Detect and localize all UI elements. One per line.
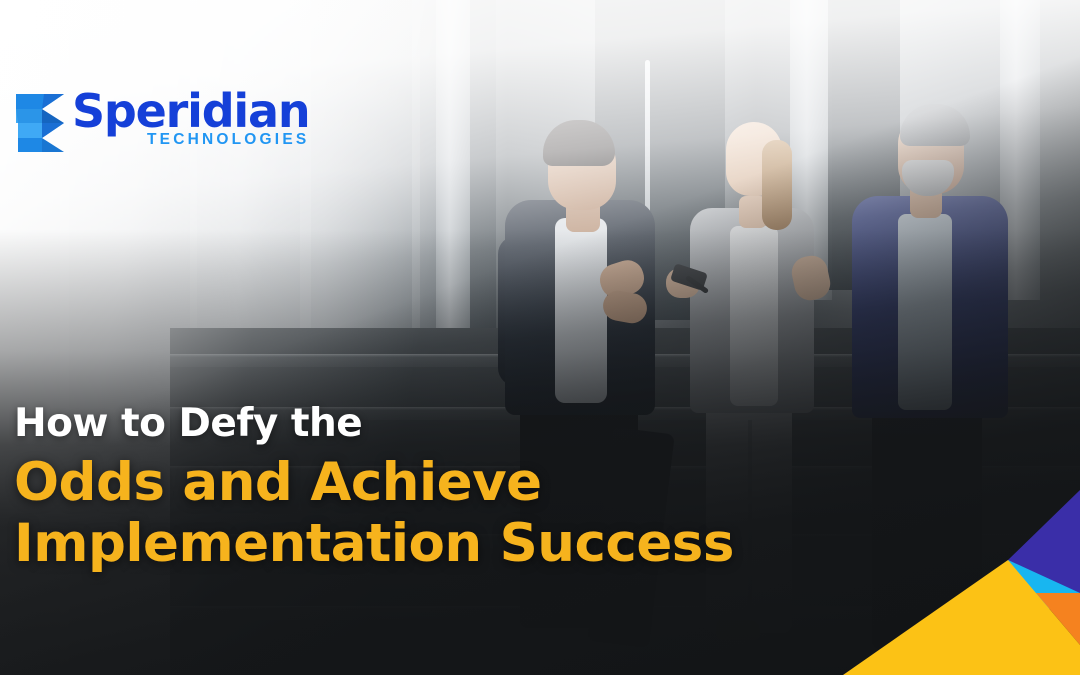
headline-line-2: Odds and Achieve xyxy=(14,455,914,510)
speridian-logo[interactable]: Speridian TECHNOLOGIES xyxy=(16,88,309,154)
headline-block: How to Defy the Odds and Achieve Impleme… xyxy=(14,404,914,571)
headline-line-1: How to Defy the xyxy=(14,404,914,445)
facade-pillar xyxy=(436,0,470,340)
speridian-s-chevron-icon xyxy=(16,92,66,154)
marketing-banner: Speridian TECHNOLOGIES How to Defy the O… xyxy=(0,0,1080,675)
headline-line-3: Implementation Success xyxy=(14,516,914,571)
corner-brand-graphic xyxy=(830,485,1080,675)
logo-wordmark: Speridian xyxy=(72,88,309,134)
